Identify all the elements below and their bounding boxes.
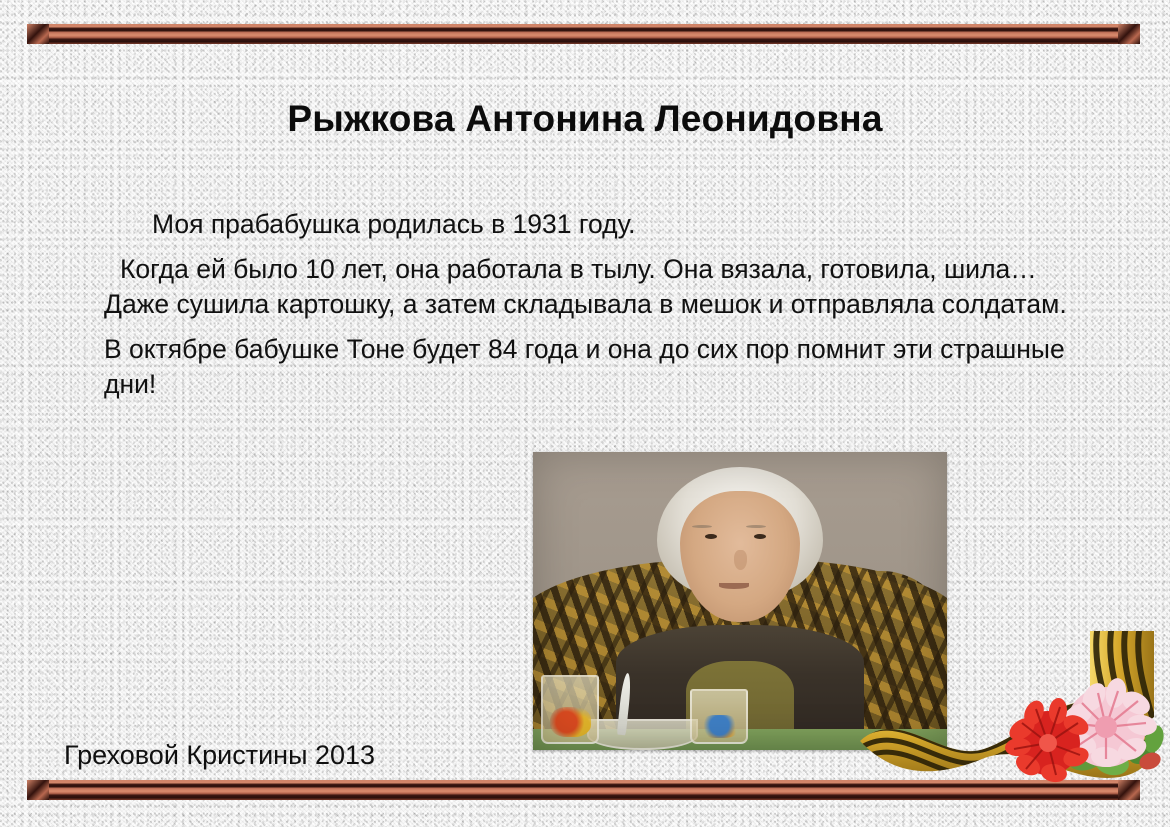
photo-elderly-woman [533, 452, 947, 750]
slide-body-text: Моя прабабушка родилась в 1931 году. Ког… [104, 207, 1072, 412]
photo-vignette [533, 452, 947, 750]
body-paragraph-3: В октябре бабушке Тоне будет 84 года и о… [104, 332, 1072, 401]
slide-title: Рыжкова Антонина Леонидовна [80, 99, 1090, 140]
body-paragraph-1: Моя прабабушка родилась в 1931 году. [104, 207, 1072, 241]
presentation-slide: Рыжкова Антонина Леонидовна Моя прабабуш… [0, 0, 1170, 827]
body-paragraph-2: Когда ей было 10 лет, она работала в тыл… [104, 252, 1072, 321]
author-credit: Греховой Кристины 2013 [64, 740, 375, 771]
